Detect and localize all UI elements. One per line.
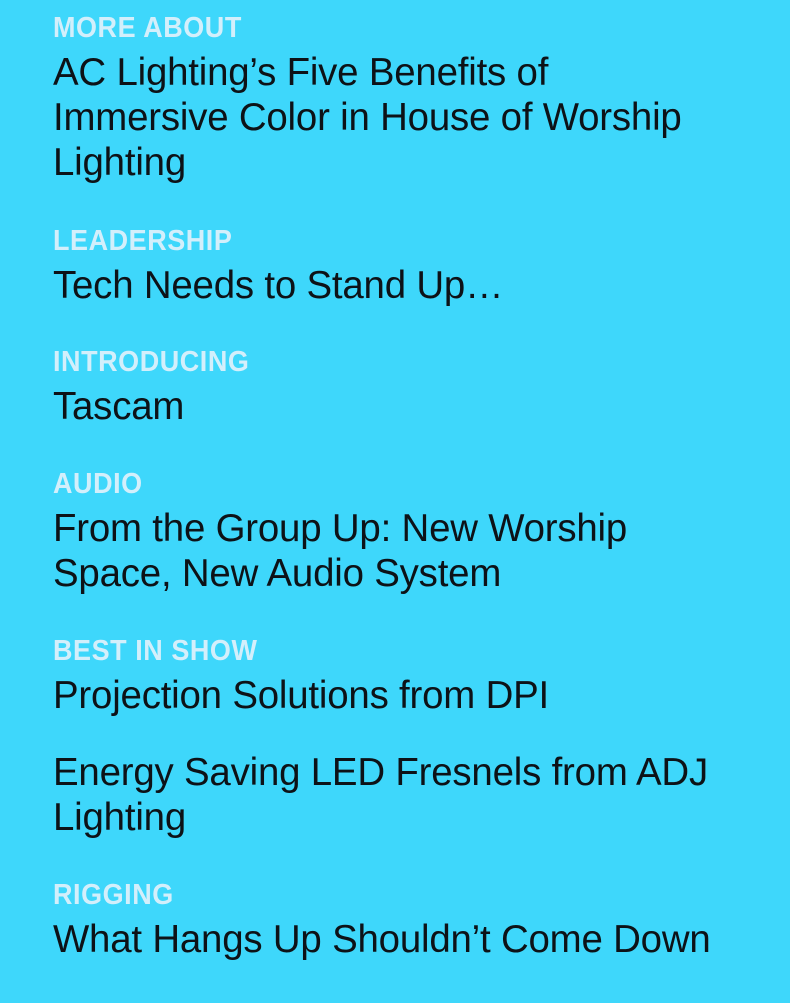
section-rigging: RIGGING What Hangs Up Shouldn’t Come Dow… bbox=[53, 840, 735, 962]
article-list-panel: MORE ABOUT AC Lighting’s Five Benefits o… bbox=[0, 0, 790, 1003]
section-kicker-leadership: LEADERSHIP bbox=[53, 224, 687, 258]
section-kicker-introducing: INTRODUCING bbox=[53, 345, 687, 379]
section-introducing: INTRODUCING Tascam bbox=[53, 308, 735, 429]
article-headline-tech-needs-to-stand-up[interactable]: Tech Needs to Stand Up… bbox=[53, 263, 725, 308]
section-kicker-best-in-show: BEST IN SHOW bbox=[53, 634, 687, 668]
article-headline-tascam[interactable]: Tascam bbox=[53, 384, 725, 429]
section-kicker-more-about: MORE ABOUT bbox=[53, 11, 687, 45]
section-leadership: LEADERSHIP Tech Needs to Stand Up… bbox=[53, 185, 735, 308]
section-kicker-audio: AUDIO bbox=[53, 467, 687, 501]
section-best-in-show: BEST IN SHOW Projection Solutions from D… bbox=[53, 596, 735, 840]
article-headline-projection-solutions-dpi[interactable]: Projection Solutions from DPI bbox=[53, 673, 725, 718]
article-headline-energy-saving-led-fresnels[interactable]: Energy Saving LED Fresnels from ADJ Ligh… bbox=[53, 750, 725, 840]
article-headline-what-hangs-up-shouldnt-come-down[interactable]: What Hangs Up Shouldn’t Come Down bbox=[53, 917, 725, 962]
section-audio: AUDIO From the Group Up: New Worship Spa… bbox=[53, 429, 735, 596]
section-kicker-rigging: RIGGING bbox=[53, 878, 687, 912]
article-headline-ac-lighting[interactable]: AC Lighting’s Five Benefits of Immersive… bbox=[53, 50, 725, 185]
article-headline-from-the-group-up[interactable]: From the Group Up: New Worship Space, Ne… bbox=[53, 506, 725, 596]
section-more-about: MORE ABOUT AC Lighting’s Five Benefits o… bbox=[53, 0, 735, 185]
